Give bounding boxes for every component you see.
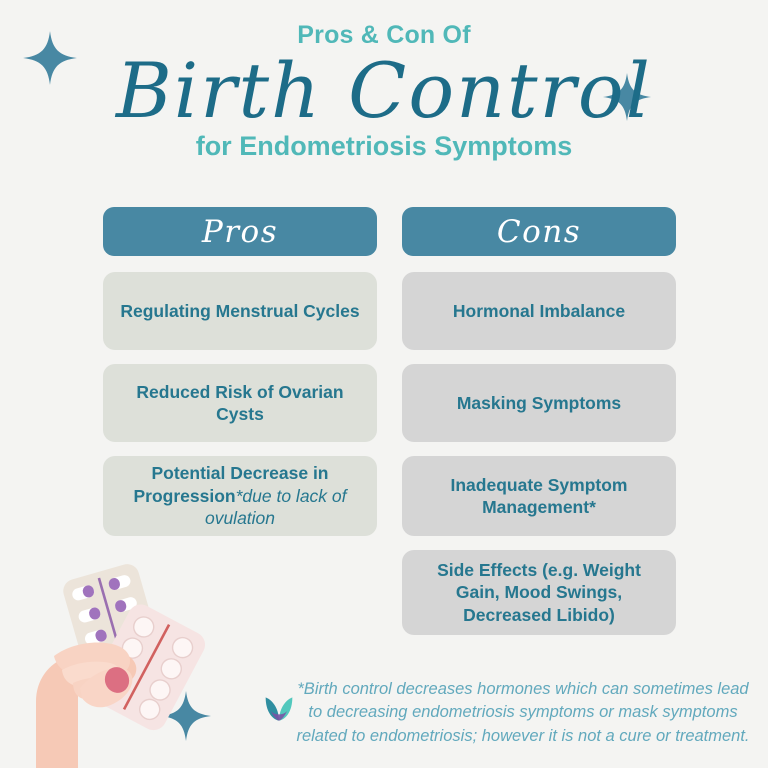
column-header-label: Pros [202,215,278,249]
pros-card-text: Reduced Risk of Ovarian Cysts [117,381,363,426]
pros-card: Potential Decrease in Progression*due to… [103,456,377,536]
column-header-cons: Cons [402,207,676,256]
pros-card-text: Regulating Menstrual Cycles [120,300,359,322]
column-cons: Cons Hormonal Imbalance Masking Symptoms… [402,207,676,256]
cons-card: Hormonal Imbalance [402,272,676,350]
footnote-text: *Birth control decreases hormones which … [290,678,756,748]
pros-card-text: Potential Decrease in Progression*due to… [117,462,363,529]
script-title-wrap: Birth Control [0,48,768,130]
cons-card-text: Masking Symptoms [457,392,621,414]
page-header: Pros & Con Of Birth Control for Endometr… [0,22,768,161]
cons-card-text: Side Effects (e.g. Weight Gain, Mood Swi… [416,559,662,626]
cons-card-text: Inadequate Symptom Management* [416,474,662,519]
pros-card: Reduced Risk of Ovarian Cysts [103,364,377,442]
cons-card: Side Effects (e.g. Weight Gain, Mood Swi… [402,550,676,635]
pros-card: Regulating Menstrual Cycles [103,272,377,350]
column-pros: Pros Regulating Menstrual Cycles Reduced… [103,207,377,256]
leaf-butterfly-logo-icon [262,694,296,724]
cons-card: Inadequate Symptom Management* [402,456,676,536]
column-header-label: Cons [497,215,581,249]
infographic-canvas: Pros & Con Of Birth Control for Endometr… [0,0,768,768]
page-subtitle: for Endometriosis Symptoms [0,132,768,162]
column-header-pros: Pros [103,207,377,256]
page-title-script: Birth Control [0,48,768,134]
cons-card-text: Hormonal Imbalance [453,300,625,322]
footnote-block: *Birth control decreases hormones which … [262,678,756,748]
cons-card: Masking Symptoms [402,364,676,442]
hand-holding-pill-packs-illustration [18,552,228,768]
